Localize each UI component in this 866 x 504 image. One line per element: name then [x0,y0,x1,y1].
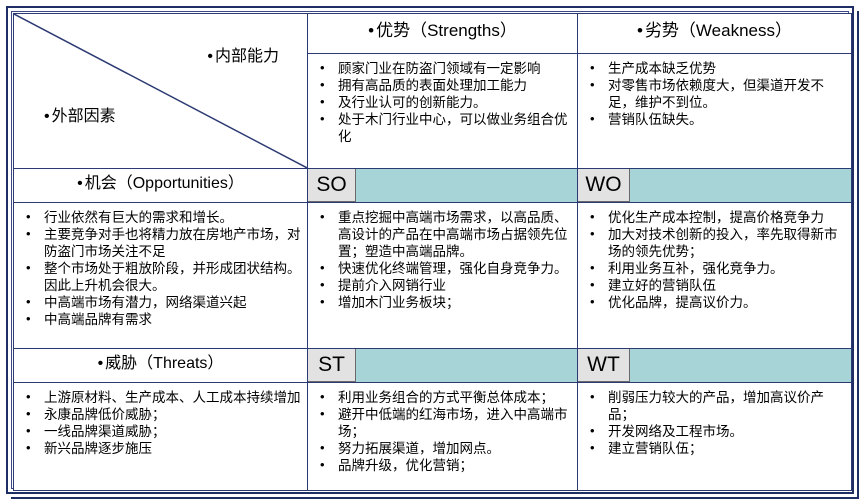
list-item: 利用业务组合的方式平衡总体成本； [312,389,571,406]
cell-wt-strategy-content: 削弱压力较大的产品，增加高议价产品； 开发网络及工程市场。 建立营销队伍； [578,382,852,490]
banner-st: ST [308,348,578,382]
list-item: 重点挖掘中高端市场需求，以高品质、高设计的产品在中高端市场占据领先位置；塑造中高… [312,209,571,260]
list-item: 利用业务互补，强化竞争力。 [582,260,845,277]
list-item: 快速优化终端管理，强化自身竞争力。 [312,260,571,277]
column-header-strengths: 优势（Strengths） [308,14,578,54]
list-item: 主要竞争对手也将精力放在房地产市场，对防盗门市场关注不足 [18,226,301,260]
list-item: 生产成本缺乏优势 [582,60,845,77]
so-strategy-list: 重点挖掘中高端市场需求，以高品质、高设计的产品在中高端市场占据领先位置；塑造中高… [312,209,571,311]
list-item: 上游原材料、生产成本、人工成本持续增加 [18,389,301,406]
list-item: 对零售市场依赖度大，但渠道开发不足，维护不到位。 [582,77,845,111]
st-strategy-list: 利用业务组合的方式平衡总体成本； 避开中低端的红海市场，进入中高端市场； 努力拓… [312,389,571,474]
row-header-threats: 威胁（Threats） [14,348,308,382]
strategy-tag-wt: WT [578,349,630,382]
cell-weakness-content: 生产成本缺乏优势 对零售市场依赖度大，但渠道开发不足，维护不到位。 营销队伍缺失… [578,54,852,169]
list-item: 永康品牌低价威胁； [18,406,301,423]
list-item: 整个市场处于粗放阶段，并形成团状结构。因此上升机会很大。 [18,260,301,294]
list-item: 努力拓展渠道，增加网点。 [312,440,571,457]
list-item: 优化品牌，提高议价力。 [582,294,845,311]
internal-capability-label: 内部能力 [207,42,279,66]
strengths-list: 顾家门业在防盗门领域有一定影响 拥有高品质的表面处理加工能力 及行业认可的创新能… [312,60,571,145]
table-row-opportunity-banner: 机会（Opportunities） SO WO [14,168,852,202]
list-item: 增加木门业务板块； [312,294,571,311]
list-item: 提前介入网销行业 [312,277,571,294]
list-item: 拥有高品质的表面处理加工能力 [312,77,571,94]
list-item: 削弱压力较大的产品，增加高议价产品； [582,389,845,423]
swot-matrix-frame: 内部能力 外部因素 优势（Strengths） 劣势（Weakness） 顾家门… [6,6,854,494]
list-item: 营销队伍缺失。 [582,111,845,128]
threats-list: 上游原材料、生产成本、人工成本持续增加 永康品牌低价威胁； 一线品牌渠道威胁； … [18,389,301,457]
cell-wo-strategy-content: 优化生产成本控制，提高价格竞争力 加大对技术创新的投入，率先取得新市场的领先优势… [578,202,852,348]
cell-st-strategy-content: 利用业务组合的方式平衡总体成本； 避开中低端的红海市场，进入中高端市场； 努力拓… [308,382,578,490]
column-header-weakness: 劣势（Weakness） [578,14,852,54]
banner-so: SO [308,168,578,202]
strategy-tag-so: SO [308,169,356,202]
list-item: 一线品牌渠道威胁； [18,423,301,440]
banner-wo: WO [578,168,852,202]
list-item: 避开中低端的红海市场，进入中高端市场； [312,406,571,440]
list-item: 处于木门行业中心，可以做业务组合优化 [312,111,571,145]
wo-strategy-list: 优化生产成本控制，提高价格竞争力 加大对技术创新的投入，率先取得新市场的领先优势… [582,209,845,311]
list-item: 中高端市场有潜力，网络渠道兴起 [18,294,301,311]
list-item: 中高端品牌有需求 [18,311,301,328]
list-item: 顾家门业在防盗门领域有一定影响 [312,60,571,77]
list-item: 建立营销队伍； [582,440,845,457]
list-item: 及行业认可的创新能力。 [312,94,571,111]
strategy-tag-wo: WO [578,169,630,202]
list-item: 行业依然有巨大的需求和增长。 [18,209,301,226]
strategy-tag-st: ST [308,349,356,382]
list-item: 新兴品牌逐步施压 [18,440,301,457]
cell-so-strategy-content: 重点挖掘中高端市场需求，以高品质、高设计的产品在中高端市场占据领先位置；塑造中高… [308,202,578,348]
list-item: 品牌升级，优化营销； [312,457,571,474]
external-factor-label: 外部因素 [44,102,116,126]
row-header-opportunities: 机会（Opportunities） [14,168,308,202]
cell-opportunities-content: 行业依然有巨大的需求和增长。 主要竞争对手也将精力放在房地产市场，对防盗门市场关… [14,202,308,348]
banner-wt: WT [578,348,852,382]
table-row-o-strategies: 行业依然有巨大的需求和增长。 主要竞争对手也将精力放在房地产市场，对防盗门市场关… [14,202,852,348]
cell-strengths-content: 顾家门业在防盗门领域有一定影响 拥有高品质的表面处理加工能力 及行业认可的创新能… [308,54,578,169]
matrix-corner-cell: 内部能力 外部因素 [14,14,308,169]
table-row-t-strategies: 上游原材料、生产成本、人工成本持续增加 永康品牌低价威胁； 一线品牌渠道威胁； … [14,382,852,490]
list-item: 开发网络及工程市场。 [582,423,845,440]
list-item: 建立好的营销队伍 [582,277,845,294]
list-item: 加大对技术创新的投入，率先取得新市场的领先优势； [582,226,845,260]
weakness-list: 生产成本缺乏优势 对零售市场依赖度大，但渠道开发不足，维护不到位。 营销队伍缺失… [582,60,845,128]
swot-matrix-table: 内部能力 外部因素 优势（Strengths） 劣势（Weakness） 顾家门… [13,13,852,491]
wt-strategy-list: 削弱压力较大的产品，增加高议价产品； 开发网络及工程市场。 建立营销队伍； [582,389,845,457]
list-item: 优化生产成本控制，提高价格竞争力 [582,209,845,226]
opportunities-list: 行业依然有巨大的需求和增长。 主要竞争对手也将精力放在房地产市场，对防盗门市场关… [18,209,301,328]
table-row-headers: 内部能力 外部因素 优势（Strengths） 劣势（Weakness） [14,14,852,54]
cell-threats-content: 上游原材料、生产成本、人工成本持续增加 永康品牌低价威胁； 一线品牌渠道威胁； … [14,382,308,490]
diagonal-divider-line [14,14,307,168]
table-row-threat-banner: 威胁（Threats） ST WT [14,348,852,382]
